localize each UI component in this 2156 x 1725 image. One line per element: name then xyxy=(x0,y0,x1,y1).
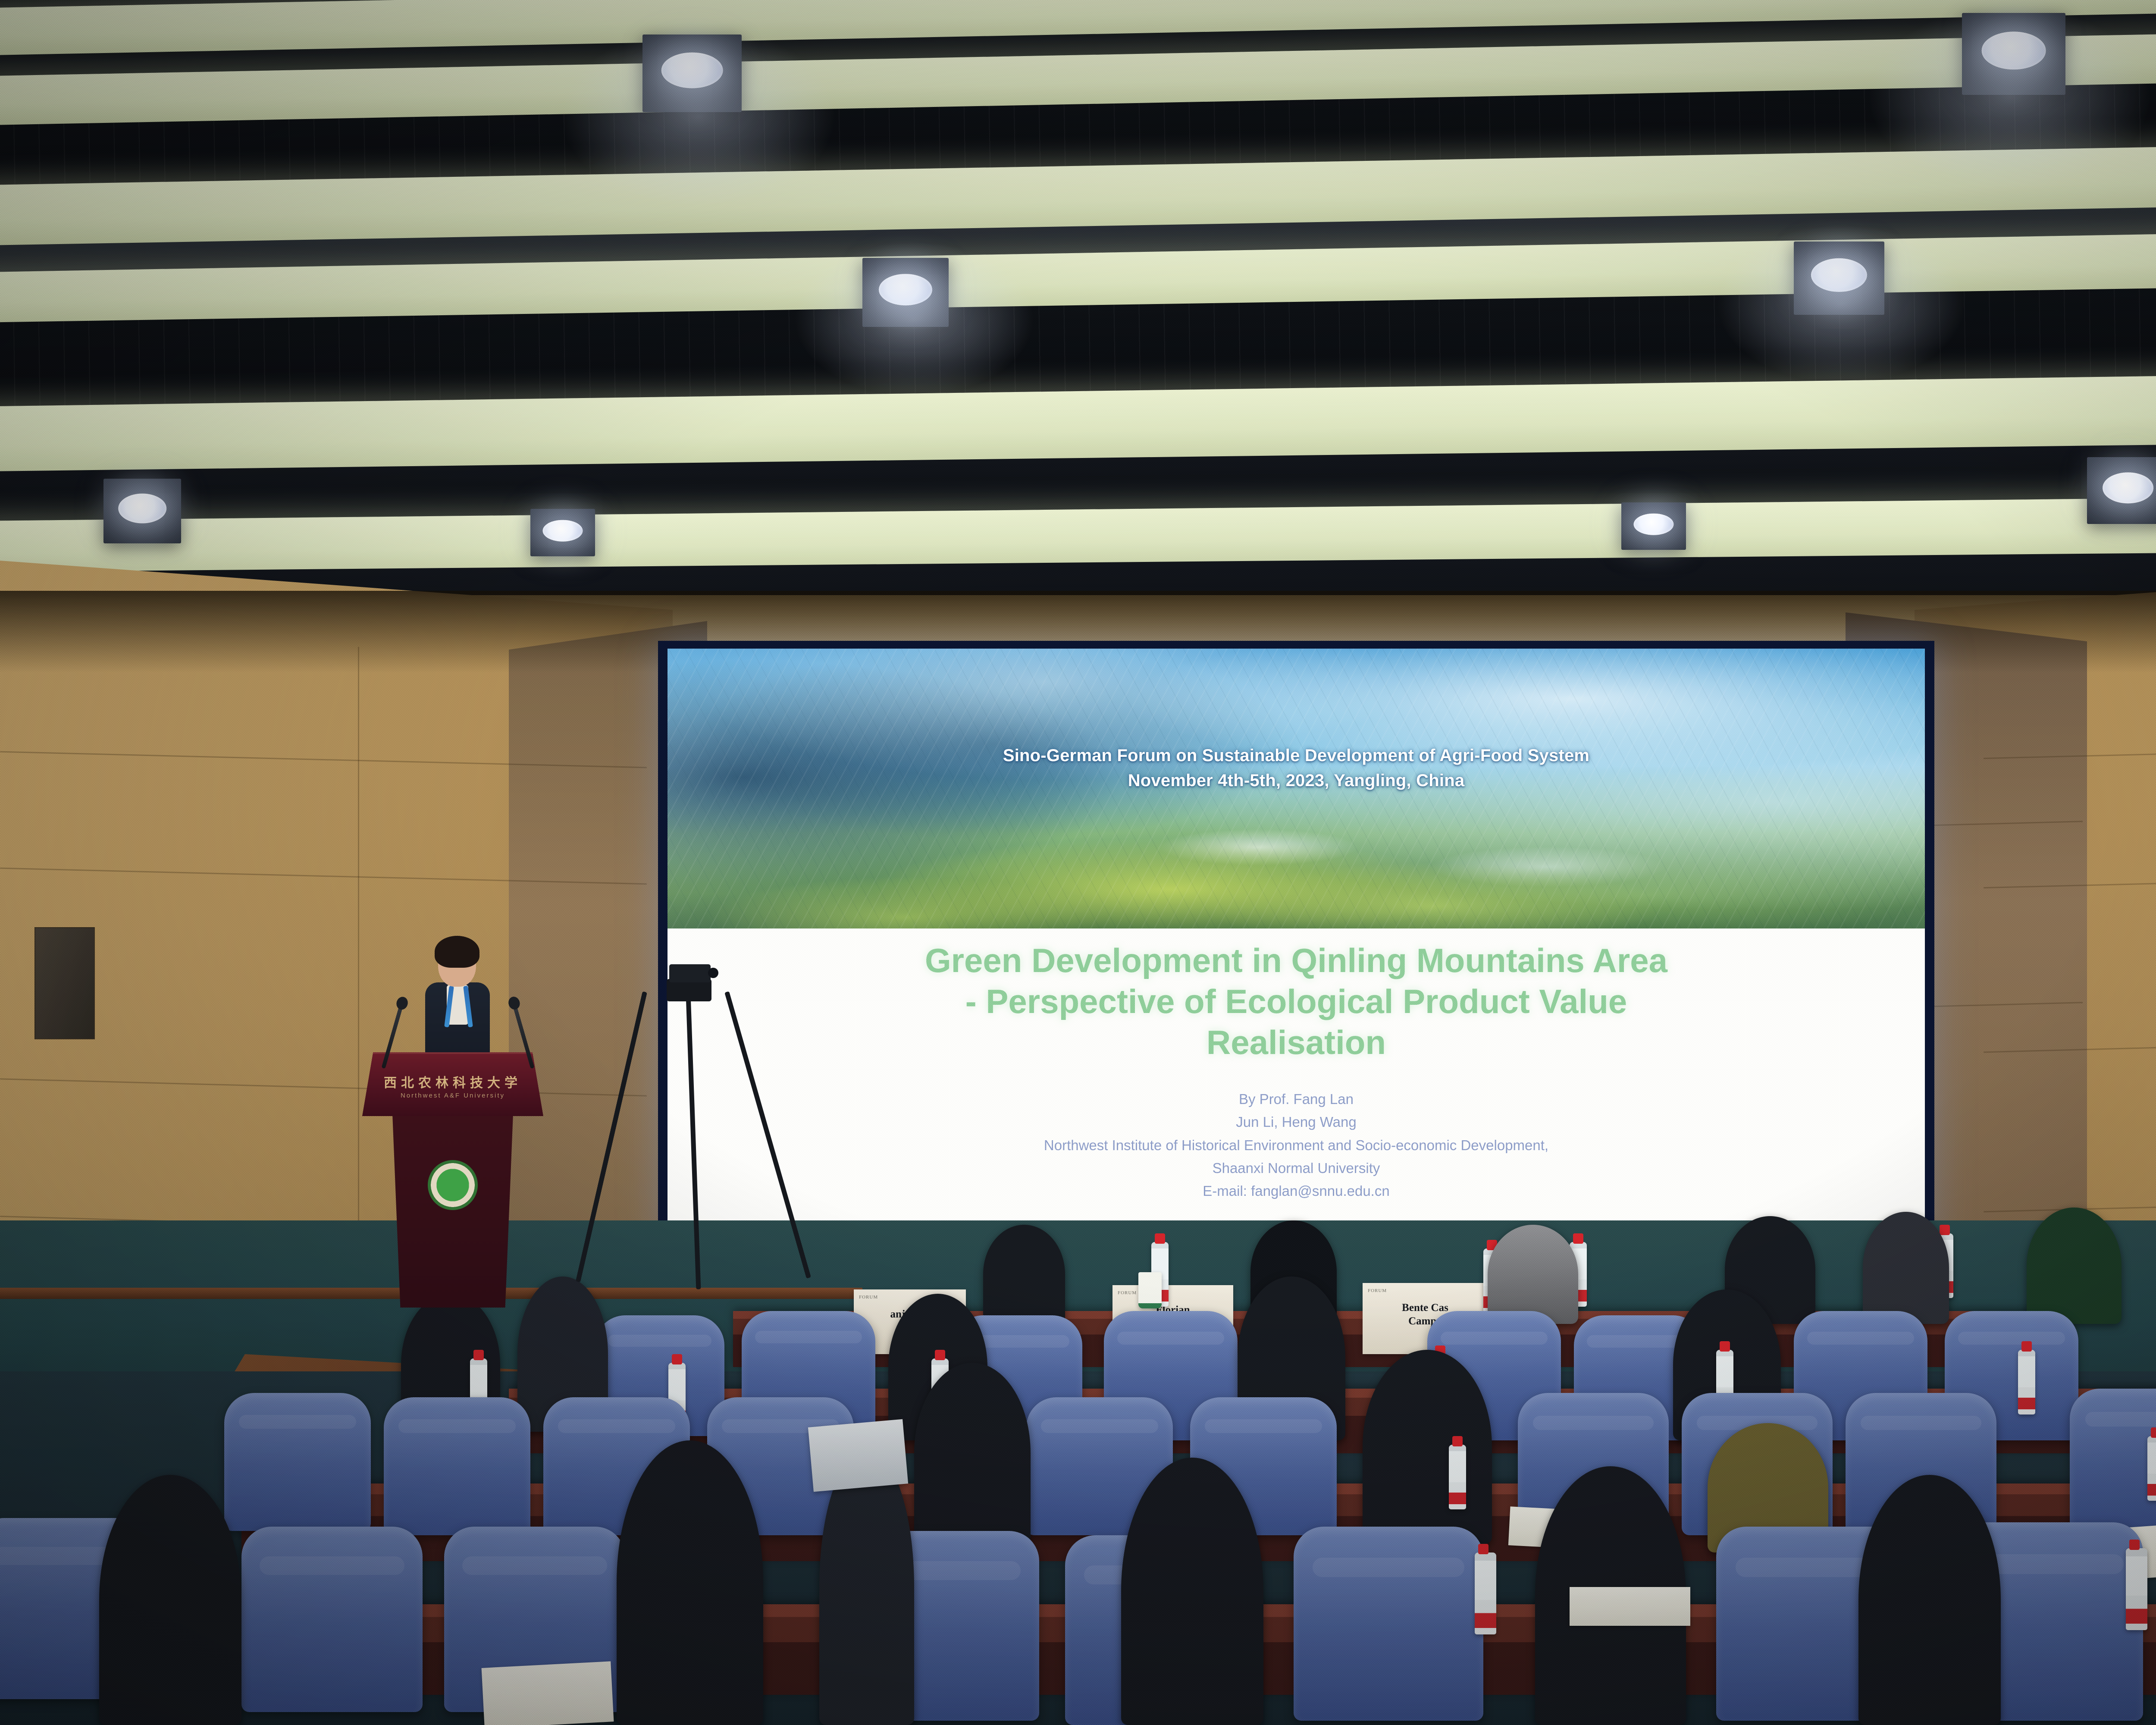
spotlight-bulb xyxy=(118,494,166,524)
podium-front-panel: 西北农林科技大学 Northwest A&F University xyxy=(362,1052,543,1116)
spotlight-bulb xyxy=(543,520,583,542)
audience-person xyxy=(819,1449,914,1725)
ceiling-spotlight xyxy=(103,479,181,543)
university-crest-icon xyxy=(428,1160,478,1210)
audience-person xyxy=(1488,1225,1578,1324)
slide-affiliation-institute: Northwest Institute of Historical Enviro… xyxy=(743,1134,1849,1157)
water-bottle xyxy=(2147,1436,2156,1501)
ceiling-spotlight xyxy=(1962,13,2065,95)
audience-chair xyxy=(1294,1527,1483,1721)
name-card-logo: FORUM xyxy=(1368,1288,1387,1294)
wall-vent-panel xyxy=(34,927,95,1039)
slide-authors: By Prof. Fang Lan Jun Li, Heng Wang Nort… xyxy=(743,1088,1849,1203)
camera-tripod xyxy=(617,979,755,1289)
slide-author-coauthors: Jun Li, Heng Wang xyxy=(743,1110,1849,1133)
spotlight-bulb xyxy=(1811,258,1867,292)
audience-chair xyxy=(224,1393,371,1531)
spotlight-bulb xyxy=(879,274,932,306)
slide-header: Sino-German Forum on Sustainable Develop… xyxy=(667,743,1925,793)
audience-chair xyxy=(241,1527,423,1712)
spotlight-bulb xyxy=(1634,513,1674,535)
podium: 西北农林科技大学 Northwest A&F University xyxy=(362,1052,543,1307)
spotlight-bulb xyxy=(1982,32,2046,69)
podium-body xyxy=(387,1115,518,1308)
audience-person xyxy=(2027,1207,2122,1324)
podium-name-chinese: 西北农林科技大学 xyxy=(362,1072,543,1091)
spotlight-bulb xyxy=(2103,473,2153,503)
slide-header-line2: November 4th-5th, 2023, Yangling, China xyxy=(667,768,1925,793)
conference-handout xyxy=(482,1661,614,1725)
water-bottle xyxy=(1475,1552,1496,1634)
audience-person xyxy=(617,1440,763,1725)
spotlight-bulb xyxy=(661,52,723,88)
podium-name-english: Northwest A&F University xyxy=(362,1092,543,1099)
paper-cup xyxy=(1138,1272,1162,1308)
audience-person xyxy=(1863,1212,1949,1324)
ceiling-spotlight xyxy=(1794,241,1884,315)
laptop xyxy=(808,1419,908,1492)
ceiling-spotlight xyxy=(2087,457,2156,524)
audience-person xyxy=(983,1225,1065,1324)
conference-handout xyxy=(1570,1587,1690,1626)
slide-header-line1: Sino-German Forum on Sustainable Develop… xyxy=(667,743,1925,768)
slide-title-line3: Realisation xyxy=(718,1022,1875,1063)
audience-person xyxy=(1121,1458,1263,1725)
audience-person xyxy=(1858,1475,2001,1725)
slide-author-presenter: By Prof. Fang Lan xyxy=(743,1088,1849,1110)
audience-person xyxy=(99,1475,241,1725)
ceiling-spotlight xyxy=(642,34,742,112)
speaker-person xyxy=(423,940,492,1069)
projection-screen: Sino-German Forum on Sustainable Develop… xyxy=(667,649,1925,1238)
water-bottle xyxy=(2126,1548,2147,1630)
slide-contact-email: E-mail: fanglan@snnu.edu.cn xyxy=(743,1179,1849,1202)
slide-title-line1: Green Development in Qinling Mountains A… xyxy=(718,940,1875,981)
ceiling xyxy=(0,0,2156,630)
slide-affiliation-university: Shaanxi Normal University xyxy=(743,1157,1849,1179)
name-card-logo: FORUM xyxy=(1118,1290,1137,1296)
water-bottle xyxy=(2018,1350,2035,1414)
wall-seam xyxy=(358,647,359,1242)
water-bottle xyxy=(1449,1445,1466,1509)
ceiling-spotlight xyxy=(862,258,949,327)
ceiling-spotlight xyxy=(530,509,595,556)
audience-chair xyxy=(384,1397,530,1535)
slide-title: Green Development in Qinling Mountains A… xyxy=(718,940,1875,1063)
ceiling-spotlight xyxy=(1621,502,1686,550)
speaker-hair xyxy=(435,936,479,968)
name-card-logo: FORUM xyxy=(859,1295,878,1301)
conference-hall-scene: Sino-German Forum on Sustainable Develop… xyxy=(0,0,2156,1725)
tripod-leg xyxy=(686,988,701,1289)
audience-chair xyxy=(2070,1389,2156,1535)
projection-screen-frame: Sino-German Forum on Sustainable Develop… xyxy=(658,641,1934,1245)
audience-person xyxy=(914,1363,1031,1544)
audience-person xyxy=(1363,1350,1492,1544)
slide-title-line2: - Perspective of Ecological Product Valu… xyxy=(718,981,1875,1022)
video-camera-icon xyxy=(669,964,711,982)
